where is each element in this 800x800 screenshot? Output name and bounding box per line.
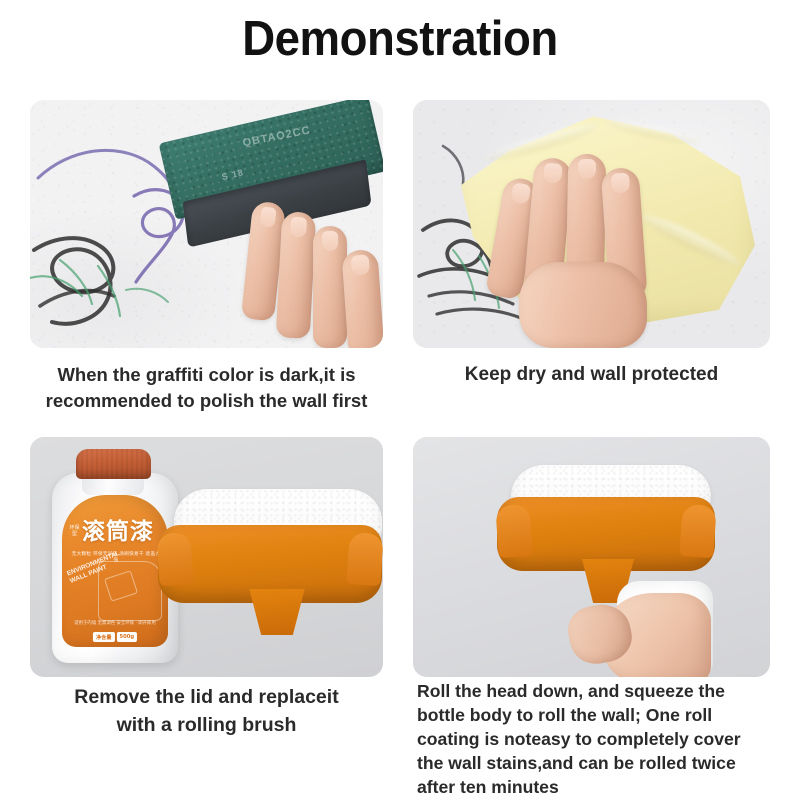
fingernail	[290, 217, 307, 238]
label-main-text: 滚筒漆	[82, 521, 154, 544]
sanding-block-print: QBTAO2CC	[242, 124, 312, 149]
panel-wipe-wall	[413, 100, 770, 348]
sanding-block-print-secondary: S 18	[221, 167, 245, 182]
roller-brush-head	[158, 489, 383, 654]
fingernail	[259, 206, 277, 228]
product-label: 环保型 滚筒漆 无大颗粒 环保无异味 涂刷快易干 遮盖力强 ENVIRONMEN…	[62, 495, 168, 647]
hand-squeezing-bottle	[561, 585, 711, 677]
fingernail	[543, 162, 563, 184]
bottle-cap	[76, 449, 151, 479]
page-title: Demonstration	[28, 14, 772, 65]
fingernail	[611, 173, 631, 194]
label-net-weight-badge: 净含量 500g	[93, 632, 137, 642]
caption-panel-sand-wall: When the graffiti color is dark,it is re…	[22, 362, 391, 415]
roller-end-cap-right	[679, 504, 717, 558]
hand	[245, 196, 383, 348]
roller-end-cap-left	[156, 532, 194, 586]
finger-middle	[276, 211, 317, 339]
panel-replace-lid: 环保型 滚筒漆 无大颗粒 环保无异味 涂刷快易干 遮盖力强 ENVIRONMEN…	[30, 437, 383, 677]
label-footer-text: 适用于内墙 无需调色 安全环保 · 即开即用	[68, 621, 162, 627]
finger-pinky	[341, 249, 383, 348]
caption-panel-replace-lid: Remove the lid and replaceit with a roll…	[22, 683, 391, 740]
panel-roll-wall	[413, 437, 770, 677]
label-badge-left: 净含量	[93, 632, 115, 642]
caption-panel-roll-wall: Roll the head down, and squeeze the bott…	[417, 679, 785, 799]
fingernail	[351, 255, 370, 276]
caption-panel-wipe-wall: Keep dry and wall protected	[410, 362, 773, 389]
finger-ring	[313, 226, 347, 348]
scene-hand-wiping-wall	[413, 100, 770, 348]
demonstration-infographic: Demonstration QBTAO2CC S 18	[0, 0, 800, 800]
label-badge-right: 500g	[117, 632, 138, 642]
palm	[519, 262, 647, 348]
fingernail	[578, 159, 597, 179]
scene-bottle-and-roller: 环保型 滚筒漆 无大颗粒 环保无异味 涂刷快易干 遮盖力强 ENVIRONMEN…	[30, 437, 383, 677]
fingernail	[322, 231, 338, 251]
panel-sand-wall: QBTAO2CC S 18	[30, 100, 383, 348]
scene-hand-sanding-graffiti-wall: QBTAO2CC S 18	[30, 100, 383, 348]
roller-end-cap-left	[495, 504, 533, 558]
hand	[495, 130, 685, 335]
label-brand-small: 环保型	[68, 525, 81, 538]
label-illustration	[98, 561, 162, 621]
roller-connector-stem	[244, 589, 310, 635]
roller-end-cap-right	[346, 532, 383, 586]
scene-rolling-paint-on-wall	[413, 437, 770, 677]
fingernail	[511, 182, 531, 205]
